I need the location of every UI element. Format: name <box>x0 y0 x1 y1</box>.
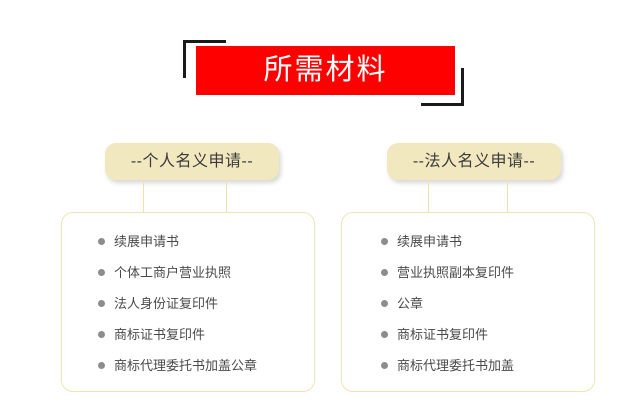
column-individual-application: --个人名义申请-- 续展申请书 个体工商户营业执照 法人身份证复 <box>61 138 317 400</box>
list-item: 商标证书复印件 <box>342 319 594 350</box>
list-item: 公章 <box>342 288 594 319</box>
list-item: 续展申请书 <box>62 226 314 257</box>
list-item-label: 公章 <box>397 297 423 310</box>
column-body-legal-entity: 续展申请书 营业执照副本复印件 公章 商标证书复印件 <box>341 212 595 392</box>
column-header-label: --个人名义申请-- <box>131 154 253 170</box>
list-item: 营业执照副本复印件 <box>342 257 594 288</box>
list-item: 续展申请书 <box>342 226 594 257</box>
list-item: 商标代理委托书加盖 <box>342 350 594 381</box>
bullet-icon <box>98 269 105 276</box>
bullet-icon <box>381 300 388 307</box>
list-item-label: 商标代理委托书加盖 <box>397 359 514 372</box>
column-header-legal-entity: --法人名义申请-- <box>387 143 561 180</box>
bullet-icon <box>98 362 105 369</box>
bullet-icon <box>381 331 388 338</box>
list-item: 个体工商户营业执照 <box>62 257 314 288</box>
list-item-label: 续展申请书 <box>114 235 179 248</box>
connector-line-right <box>226 180 227 213</box>
bullet-icon <box>98 331 105 338</box>
requirement-list-individual: 续展申请书 个体工商户营业执照 法人身份证复印件 商标证书复印件 <box>62 213 314 381</box>
infographic-root: 所需材料 --个人名义申请-- 续展申请书 个体工商户营业执照 <box>0 0 640 415</box>
list-item: 商标代理委托书加盖公章 <box>62 350 314 381</box>
bullet-icon <box>381 269 388 276</box>
list-item: 法人身份证复印件 <box>62 288 314 319</box>
list-item-label: 商标代理委托书加盖公章 <box>114 359 257 372</box>
page-title: 所需材料 <box>263 56 387 85</box>
list-item-label: 法人身份证复印件 <box>114 297 218 310</box>
list-item: 商标证书复印件 <box>62 319 314 350</box>
title-block: 所需材料 <box>0 0 640 130</box>
bullet-icon <box>381 238 388 245</box>
columns-container: --个人名义申请-- 续展申请书 个体工商户营业执照 法人身份证复 <box>0 138 640 400</box>
requirement-list-legal-entity: 续展申请书 营业执照副本复印件 公章 商标证书复印件 <box>342 213 594 381</box>
column-header-individual: --个人名义申请-- <box>105 143 279 180</box>
list-item-label: 个体工商户营业执照 <box>114 266 231 279</box>
column-body-individual: 续展申请书 个体工商户营业执照 法人身份证复印件 商标证书复印件 <box>61 212 315 392</box>
bullet-icon <box>381 362 388 369</box>
bullet-icon <box>98 238 105 245</box>
connector-line-left <box>428 180 429 213</box>
title-banner: 所需材料 <box>196 46 455 95</box>
bullet-icon <box>98 300 105 307</box>
list-item-label: 营业执照副本复印件 <box>397 266 514 279</box>
connector-line-left <box>143 180 144 213</box>
list-item-label: 商标证书复印件 <box>114 328 205 341</box>
column-legal-entity-application: --法人名义申请-- 续展申请书 营业执照副本复印件 公章 <box>341 138 597 400</box>
column-header-label: --法人名义申请-- <box>413 154 535 170</box>
connector-line-right <box>507 180 508 213</box>
corner-bracket-bottom-right-icon <box>421 68 464 106</box>
list-item-label: 商标证书复印件 <box>397 328 488 341</box>
list-item-label: 续展申请书 <box>397 235 462 248</box>
